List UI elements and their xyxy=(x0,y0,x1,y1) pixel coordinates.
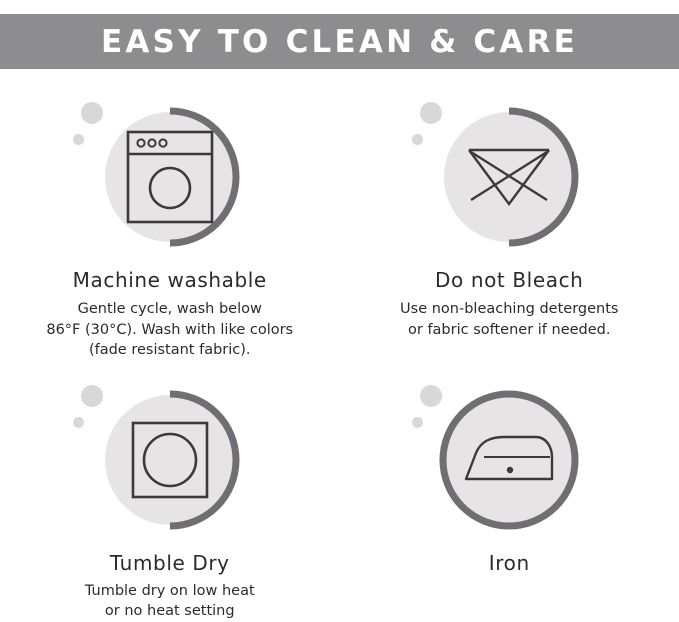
icon-cluster xyxy=(404,367,614,547)
care-card-do-not-bleach: Do not Bleach Use non-bleaching detergen… xyxy=(340,78,679,361)
icon-cluster xyxy=(65,367,275,547)
decorative-dot-small xyxy=(73,417,84,428)
icon-cluster xyxy=(404,84,614,264)
icon-cluster xyxy=(65,84,275,264)
iron-icon xyxy=(444,395,574,525)
card-description: Use non-bleaching detergents or fabric s… xyxy=(400,299,618,340)
decorative-dot-small xyxy=(412,134,423,145)
tumble-dry-icon xyxy=(105,395,235,525)
card-title: Do not Bleach xyxy=(435,268,583,292)
care-card-tumble-dry: Tumble Dry Tumble dry on low heat or no … xyxy=(0,361,340,622)
decorative-dot-small xyxy=(412,417,423,428)
card-title: Machine washable xyxy=(73,268,267,292)
card-title: Tumble Dry xyxy=(110,551,230,575)
header-banner: EASY TO CLEAN & CARE xyxy=(0,14,679,69)
care-icon-grid: Machine washable Gentle cycle, wash belo… xyxy=(0,78,679,594)
page-title: EASY TO CLEAN & CARE xyxy=(101,24,578,60)
card-title: Iron xyxy=(489,551,530,575)
card-description: Gentle cycle, wash below 86°F (30°C). Wa… xyxy=(46,299,293,361)
care-card-machine-washable: Machine washable Gentle cycle, wash belo… xyxy=(0,78,340,361)
washing-machine-icon xyxy=(105,112,235,242)
do-not-bleach-icon xyxy=(444,112,574,242)
card-description: Tumble dry on low heat or no heat settin… xyxy=(85,581,255,622)
decorative-dot-small xyxy=(73,134,84,145)
care-instructions-page: EASY TO CLEAN & CARE M xyxy=(0,0,679,594)
care-card-iron: Iron xyxy=(340,361,679,622)
